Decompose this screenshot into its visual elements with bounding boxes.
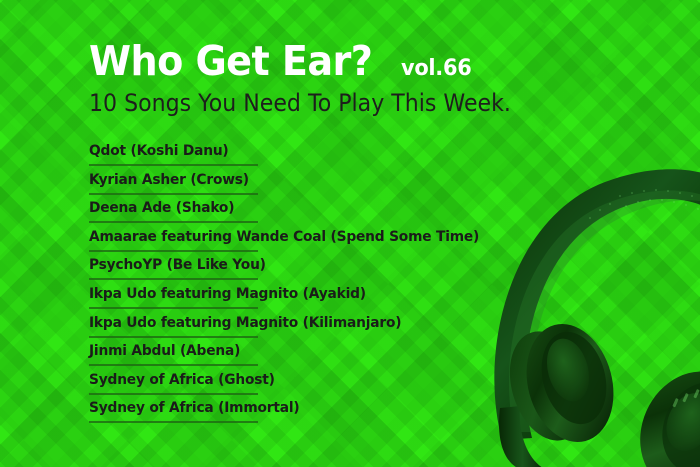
song-divider (89, 336, 258, 338)
subtitle: 10 Songs You Need To Play This Week. (89, 90, 511, 116)
list-item[interactable]: Jinmi Abdul (Abena) (89, 342, 469, 371)
list-item[interactable]: Kyrian Asher (Crows) (89, 171, 469, 200)
song-divider (89, 221, 258, 223)
poster-canvas: Who Get Ear? vol.66 10 Songs You Need To… (0, 0, 700, 467)
song-list: Qdot (Koshi Danu)Kyrian Asher (Crows)Dee… (89, 142, 469, 428)
list-item[interactable]: PsychoYP (Be Like You) (89, 256, 469, 285)
song-divider (89, 393, 258, 395)
text-content: Who Get Ear? vol.66 10 Songs You Need To… (0, 0, 470, 467)
song-title: Deena Ade (Shako) (89, 199, 450, 218)
list-item[interactable]: Sydney of Africa (Immortal) (89, 399, 469, 428)
song-title: Kyrian Asher (Crows) (89, 171, 450, 190)
song-title: Qdot (Koshi Danu) (89, 142, 450, 161)
song-title: Amaarae featuring Wande Coal (Spend Some… (89, 228, 450, 247)
list-item[interactable]: Deena Ade (Shako) (89, 199, 469, 228)
title-row: Who Get Ear? vol.66 (89, 41, 475, 82)
song-divider (89, 364, 258, 366)
song-divider (89, 421, 258, 423)
list-item[interactable]: Sydney of Africa (Ghost) (89, 371, 469, 400)
list-item[interactable]: Amaarae featuring Wande Coal (Spend Some… (89, 228, 469, 257)
song-title: PsychoYP (Be Like You) (89, 256, 450, 275)
song-divider (89, 278, 258, 280)
song-title: Ikpa Udo featuring Magnito (Kilimanjaro) (89, 314, 450, 333)
song-divider (89, 164, 258, 166)
page-title: Who Get Ear? (89, 41, 372, 82)
list-item[interactable]: Qdot (Koshi Danu) (89, 142, 469, 171)
song-title: Ikpa Udo featuring Magnito (Ayakid) (89, 285, 450, 304)
song-title: Sydney of Africa (Immortal) (89, 399, 450, 418)
volume-label: vol.66 (401, 58, 471, 80)
song-divider (89, 250, 258, 252)
song-title: Jinmi Abdul (Abena) (89, 342, 450, 361)
song-divider (89, 307, 258, 309)
list-item[interactable]: Ikpa Udo featuring Magnito (Kilimanjaro) (89, 314, 469, 343)
song-title: Sydney of Africa (Ghost) (89, 371, 450, 390)
song-divider (89, 193, 258, 195)
list-item[interactable]: Ikpa Udo featuring Magnito (Ayakid) (89, 285, 469, 314)
